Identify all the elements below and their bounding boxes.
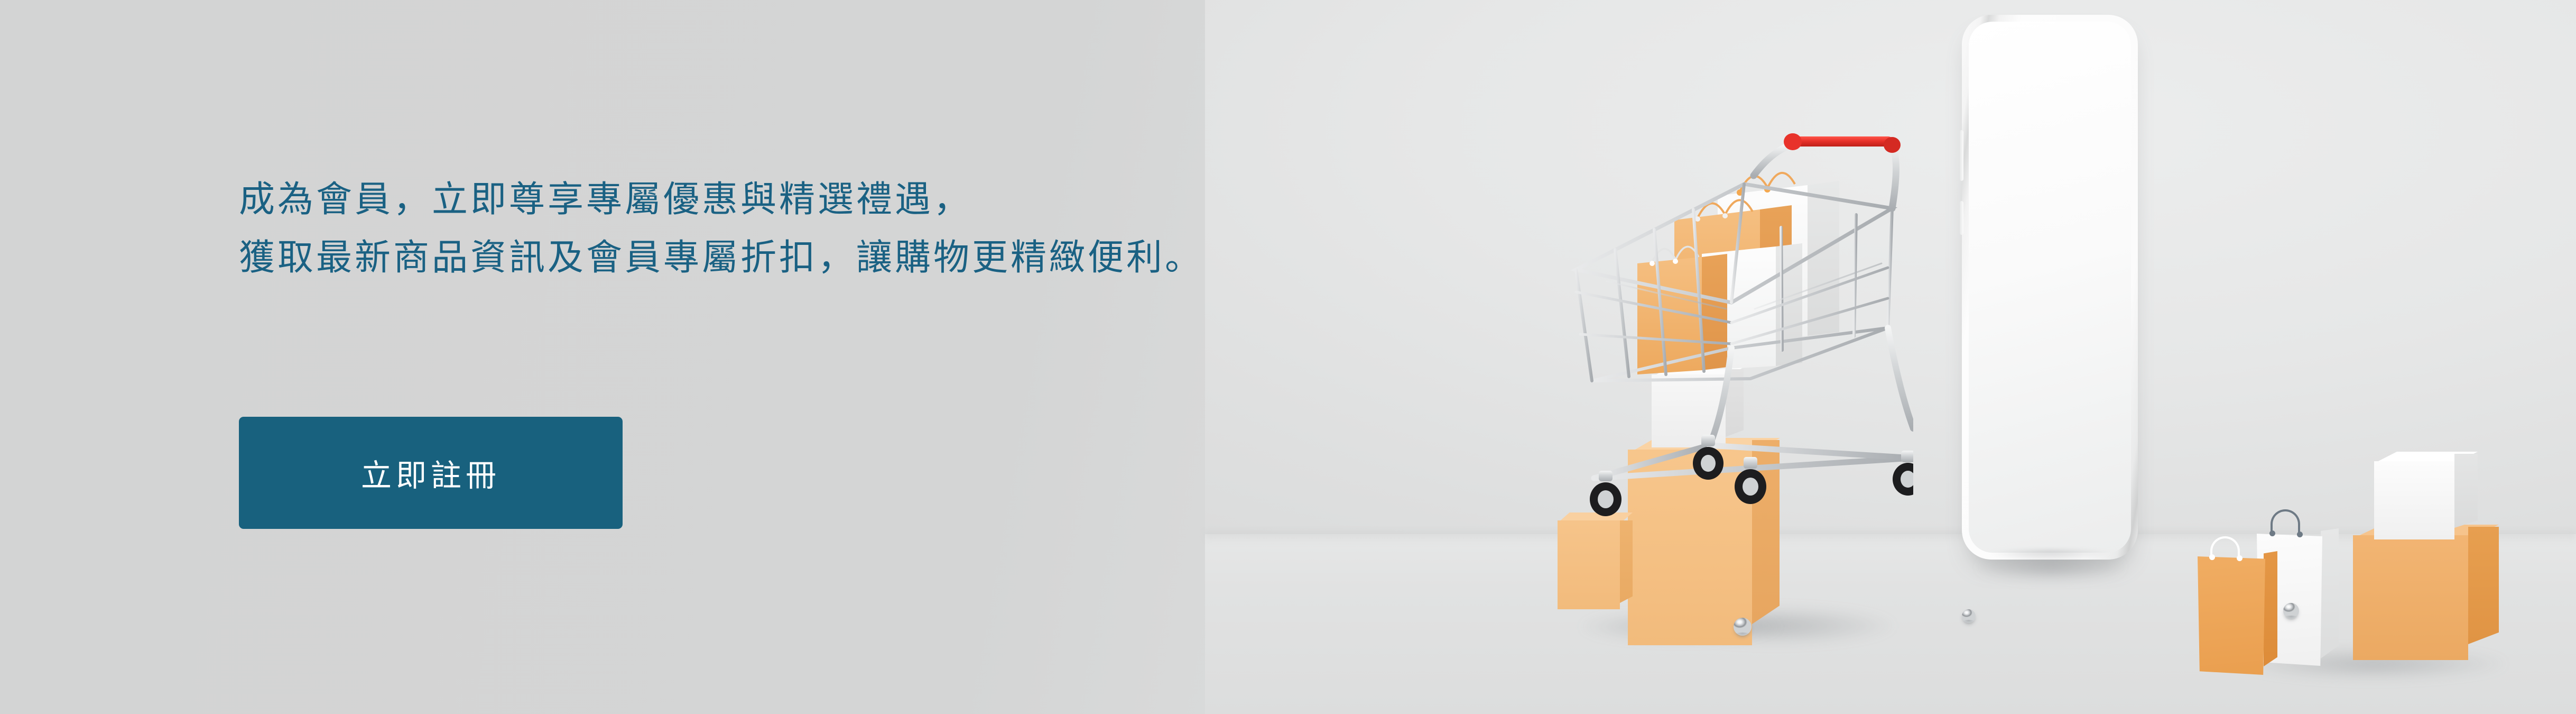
shopping-cart xyxy=(1543,95,1913,550)
membership-promo-banner: 成為會員，立即尊享專屬優惠與精選禮遇， 獲取最新商品資訊及會員專屬折扣，讓購物更… xyxy=(0,0,2576,714)
metal-sphere-left xyxy=(1734,618,1752,636)
bag-side-face xyxy=(2264,551,2277,666)
phone-volume-down-button xyxy=(1960,201,1963,235)
cart-handle-red xyxy=(1790,136,1893,147)
ecommerce-illustration xyxy=(1205,0,2576,714)
phone-volume-up-button xyxy=(1960,130,1963,181)
bag-handle-knob xyxy=(2237,555,2243,561)
bag-handle-knob xyxy=(2297,532,2303,537)
smartphone-mockup xyxy=(1962,15,2138,560)
bag-handle-knob xyxy=(2209,554,2215,560)
headline-line-1: 成為會員，立即尊享專屬優惠與精選禮遇， xyxy=(239,170,1243,228)
cube-side-face xyxy=(2454,454,2478,528)
box-side-face xyxy=(2468,527,2499,644)
bag-handle-knob xyxy=(2269,530,2275,536)
bag-side-face xyxy=(2321,528,2339,658)
headline-line-2: 獲取最新商品資訊及會員專屬折扣，讓購物更精緻便利。 xyxy=(239,228,1243,287)
bag-front-face xyxy=(2198,556,2265,675)
cube-front-face xyxy=(2374,461,2454,539)
metal-sphere-right xyxy=(2283,603,2299,619)
metal-sphere-center xyxy=(1962,609,1976,623)
bag-handle xyxy=(2271,509,2300,534)
phone-reflection xyxy=(1962,550,2138,568)
register-now-button[interactable]: 立即註冊 xyxy=(239,417,623,529)
cart-contents xyxy=(1637,173,1839,374)
phone-screen xyxy=(1969,22,2131,553)
headline-block: 成為會員，立即尊享專屬優惠與精選禮遇， 獲取最新商品資訊及會員專屬折扣，讓購物更… xyxy=(239,170,1243,287)
box-front-face xyxy=(2353,535,2468,660)
